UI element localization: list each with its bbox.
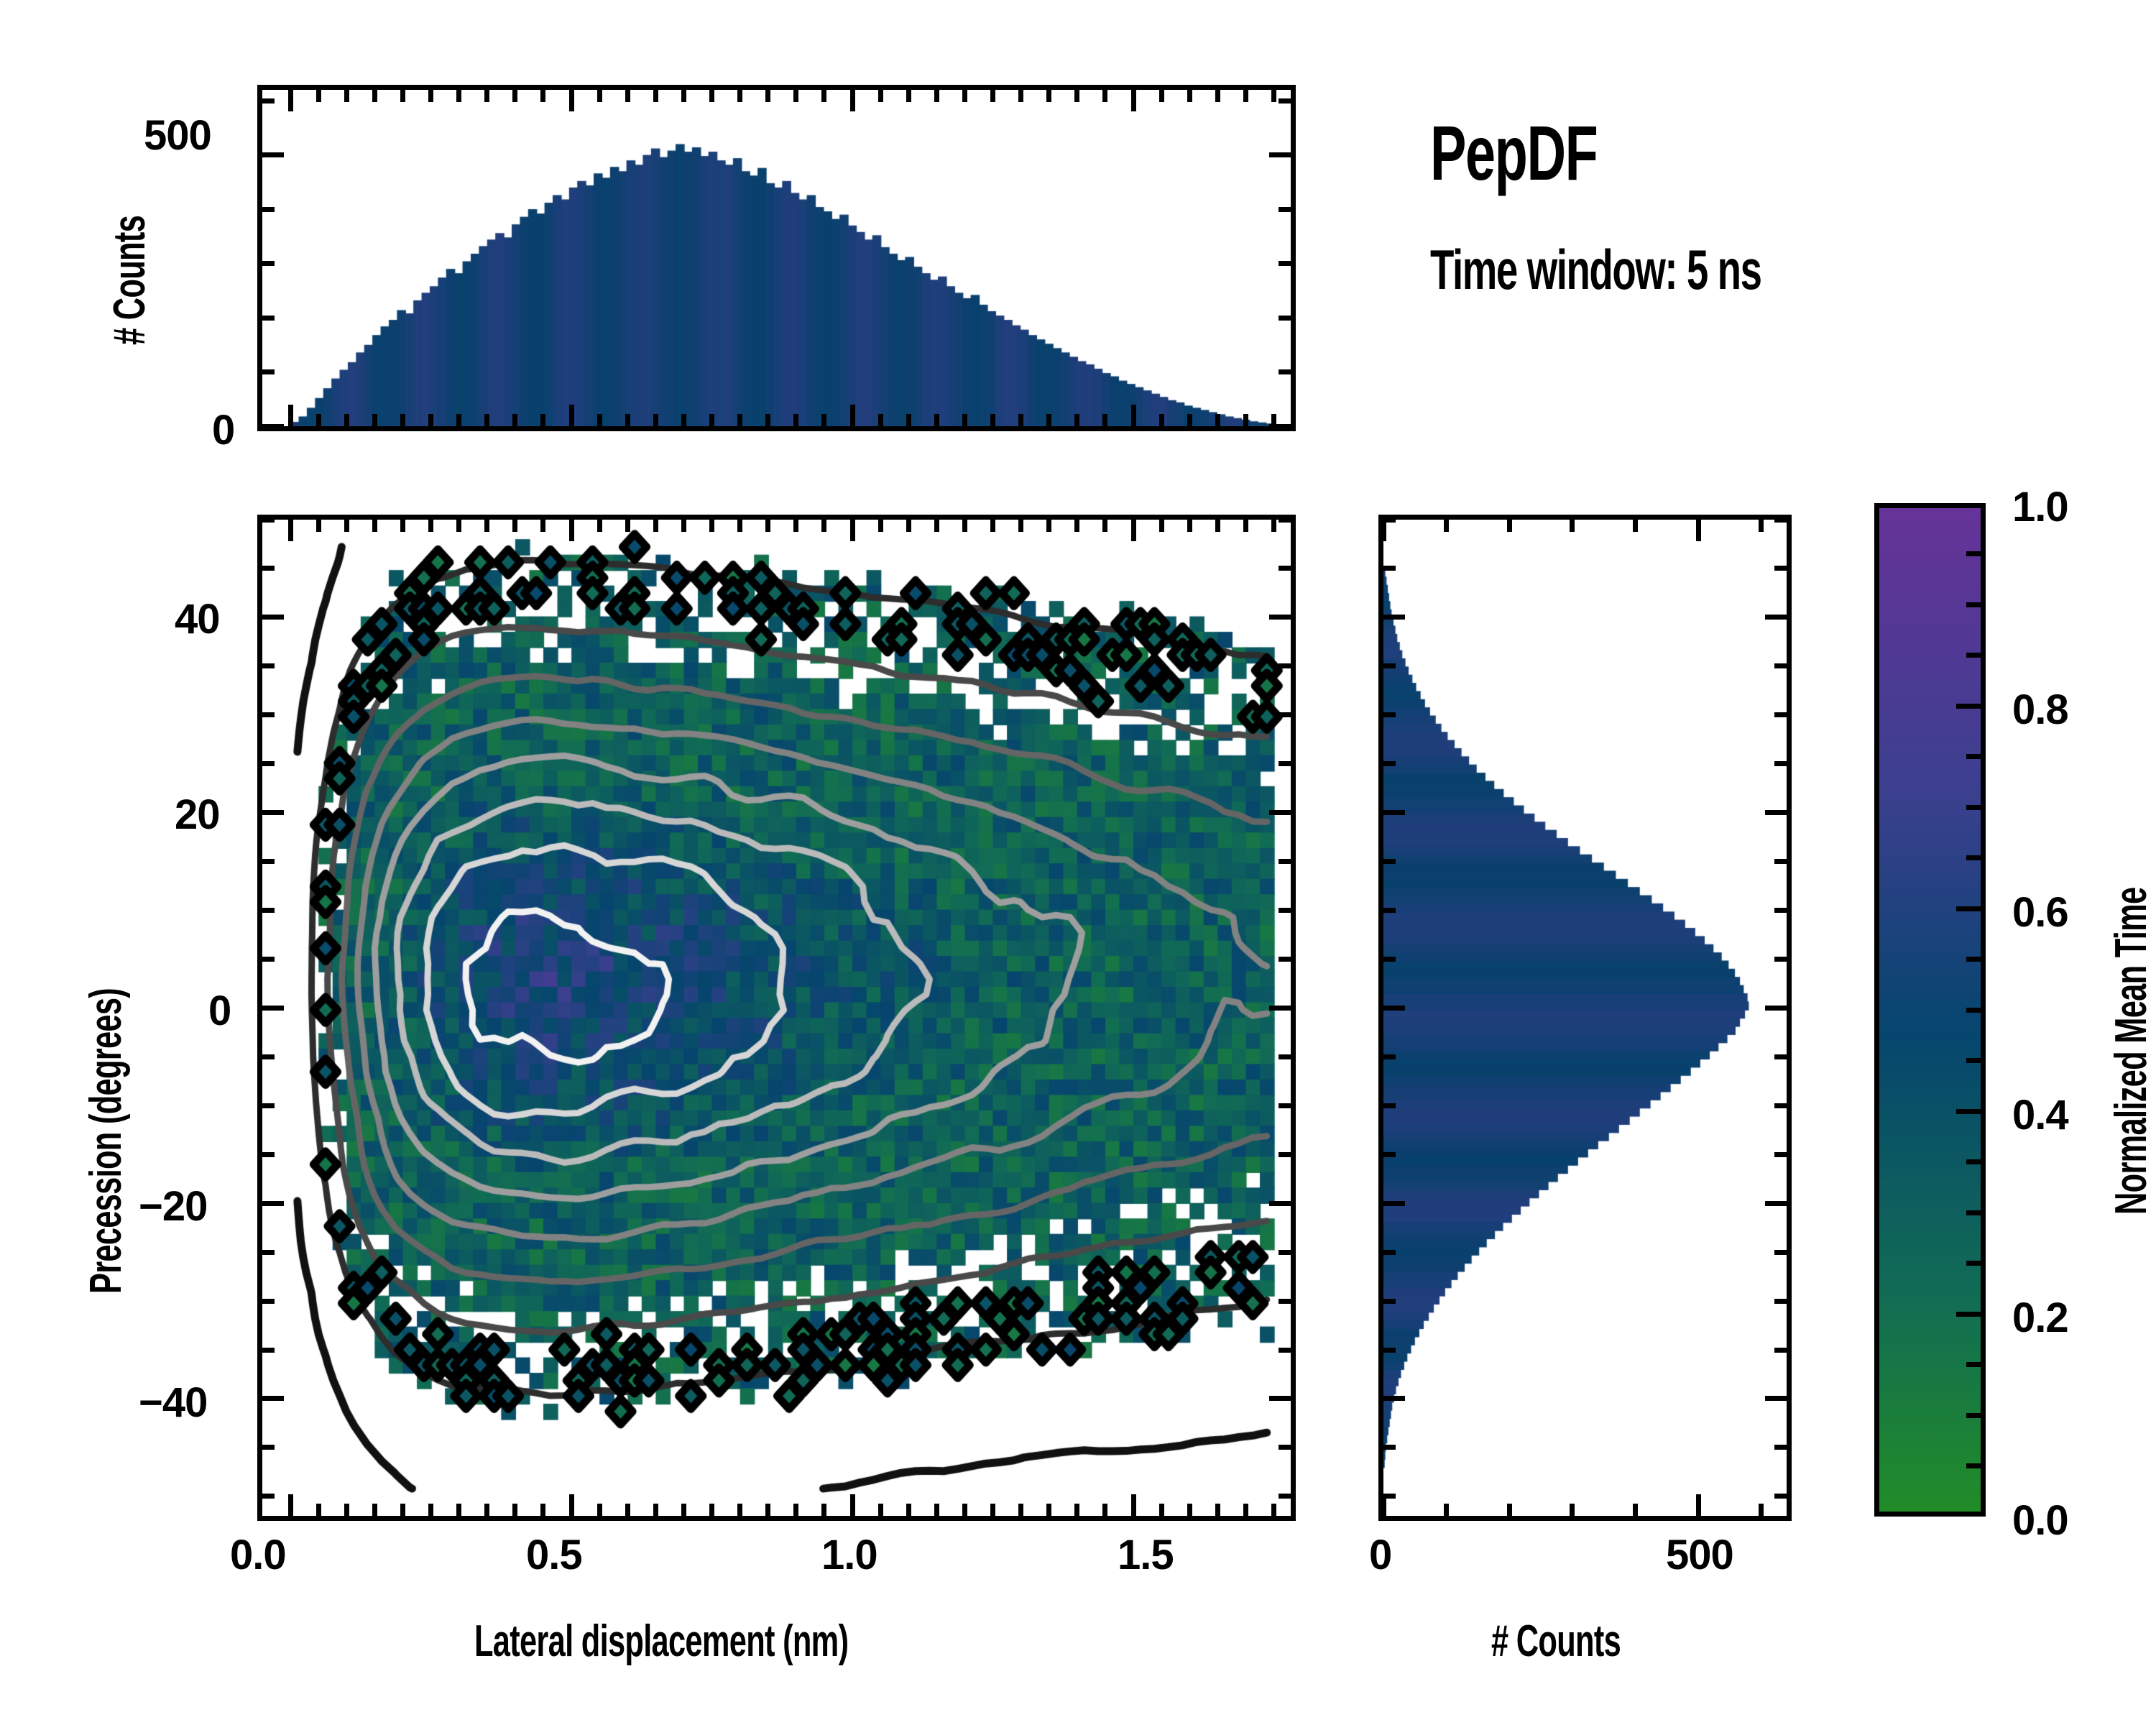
colorbar	[1874, 503, 1986, 1517]
cbar-tick-04: 0.4	[2012, 1091, 2068, 1139]
main-ytick-n40: −40	[139, 1379, 207, 1427]
top-hist-axis-title: # Counts	[104, 160, 155, 345]
main-heatmap-plot-area	[262, 520, 1291, 1516]
right-histogram-plot-area	[1383, 520, 1787, 1516]
top-hist-ytick-0: 0	[212, 406, 234, 454]
main-xtick-00: 0.0	[230, 1531, 286, 1579]
main-ytick-n20: −20	[139, 1182, 207, 1230]
figure-subtitle: Time window: 5 ns	[1430, 237, 1903, 303]
right-hist-axis-title: # Counts	[1491, 1616, 1676, 1667]
cbar-tick-02: 0.2	[2012, 1294, 2068, 1342]
figure-title: PepDF	[1430, 108, 1669, 198]
main-ytick-40: 40	[175, 595, 220, 643]
main-xtick-05: 0.5	[526, 1531, 582, 1579]
main-xtick-15: 1.5	[1118, 1531, 1174, 1579]
main-x-axis-title-text: Lateral displacement (nm)	[474, 1616, 848, 1667]
cbar-tick-08: 0.8	[2012, 686, 2068, 734]
colorbar-axis-title-text: Normalized Mean Time	[2106, 887, 2156, 1215]
main-ytick-0: 0	[208, 987, 231, 1035]
figure-title-text: PepDF	[1430, 108, 1597, 198]
main-y-axis-title: Precession (degrees)	[80, 857, 132, 1294]
cbar-tick-10: 1.0	[2012, 483, 2068, 531]
top-hist-ytick-500: 500	[144, 111, 211, 160]
main-x-axis-title: Lateral displacement (nm)	[474, 1616, 1008, 1667]
top-hist-axis-title-text: # Counts	[104, 216, 155, 345]
figure-canvas: PepDF Time window: 5 ns 500 0 # Counts 4…	[0, 0, 2156, 1725]
right-hist-xtick-500: 500	[1666, 1531, 1733, 1579]
main-ytick-20: 20	[175, 791, 220, 839]
cbar-tick-00: 0.0	[2012, 1496, 2068, 1545]
main-y-axis-title-text: Precession (degrees)	[80, 988, 132, 1294]
figure-subtitle-text: Time window: 5 ns	[1430, 237, 1761, 303]
right-hist-axis-title-text: # Counts	[1491, 1616, 1621, 1667]
colorbar-axis-title: Normalized Mean Time	[2106, 747, 2156, 1215]
top-histogram-plot-area	[262, 90, 1291, 426]
main-xtick-10: 1.0	[821, 1531, 877, 1579]
cbar-tick-06: 0.6	[2012, 888, 2068, 937]
right-hist-xtick-0: 0	[1369, 1531, 1391, 1579]
